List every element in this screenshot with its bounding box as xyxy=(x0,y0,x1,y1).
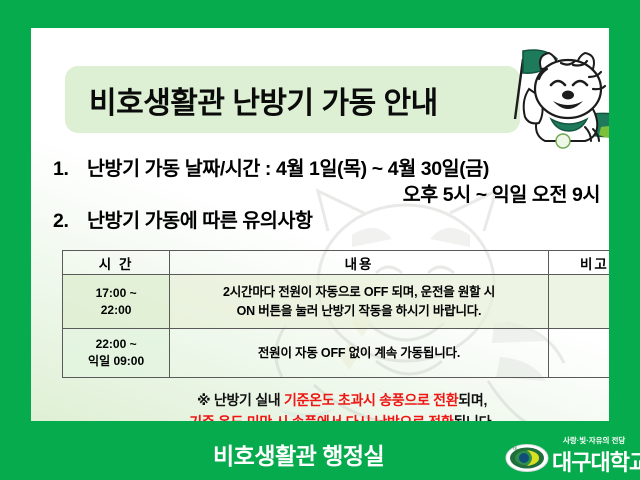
list-item-continuation: 오후 5시 ~ 익일 오전 9시 xyxy=(53,182,609,208)
list-item: 2. 난방기 가동에 따른 유의사항 xyxy=(53,208,609,234)
footnote-plain-a: 난방기 실내 xyxy=(214,392,284,408)
content-line-1: 2시간마다 전원이 자동으로 OFF 되며, 운전을 원할 시 xyxy=(170,283,548,302)
svg-text:대: 대 xyxy=(513,445,517,451)
cell-content: 2시간마다 전원이 자동으로 OFF 되며, 운전을 원할 시 ON 버튼을 눌… xyxy=(170,275,549,329)
list-item-number: 1. xyxy=(53,156,87,182)
footnote-plain-b: 되며, xyxy=(458,392,487,408)
table-header-row: 시 간 내용 비고 xyxy=(63,251,610,275)
content-line-2: ON 버튼을 눌러 난방기 작동을 하시기 바랍니다. xyxy=(170,302,548,321)
footnote-emphasis-1: 기준온도 초과시 송풍으로 전환 xyxy=(284,392,458,408)
cell-content: 전원이 자동 OFF 없이 계속 가동됩니다. xyxy=(170,329,549,378)
column-header-content: 내용 xyxy=(170,251,549,275)
footnote-mark: ※ xyxy=(197,392,214,408)
time-line-2: 익일 09:00 xyxy=(63,353,169,370)
footnote-line-2: 기준 온도 미만 시 송풍에서 다시 난방으로 전환됩니다. xyxy=(62,411,609,421)
list-item-text: 난방기 가동에 따른 유의사항 xyxy=(87,208,313,234)
footnote-plain-c: 됩니다. xyxy=(453,414,494,421)
notice-poster: 비호생활관 난방기 가동 안내 1. 난방기 가동 날짜/시간 : 4월 1일(… xyxy=(0,0,640,480)
university-name: 대구대학교 xyxy=(552,445,640,477)
table-row: 22:00 ~ 익일 09:00 전원이 자동 OFF 없이 계속 가동됩니다. xyxy=(63,329,610,378)
footer-office-name: 비호생활관 행정실 xyxy=(213,437,384,471)
time-line-2: 22:00 xyxy=(63,302,169,319)
footnote-line-1: ※ 난방기 실내 기준온도 초과시 송풍으로 전환되며, xyxy=(62,389,609,411)
cell-time: 22:00 ~ 익일 09:00 xyxy=(63,329,170,378)
column-header-note: 비고 xyxy=(548,251,609,275)
poster-body-panel: 비호생활관 난방기 가동 안내 1. 난방기 가동 날짜/시간 : 4월 1일(… xyxy=(31,28,609,421)
list-item-number: 2. xyxy=(53,208,87,234)
footnote: ※ 난방기 실내 기준온도 초과시 송풍으로 전환되며, 기준 온도 미만 시 … xyxy=(62,389,609,421)
footnote-emphasis-2: 기준 온도 미만 시 송풍에서 다시 난방으로 전환 xyxy=(189,414,453,421)
table-row: 17:00 ~ 22:00 2시간마다 전원이 자동으로 OFF 되며, 운전을… xyxy=(63,275,610,329)
university-emblem-icon: 대 xyxy=(505,444,549,472)
content-line-1: 전원이 자동 OFF 없이 계속 가동됩니다. xyxy=(170,344,548,363)
list-item: 1. 난방기 가동 날짜/시간 : 4월 1일(목) ~ 4월 30일(금) xyxy=(53,156,609,182)
cell-note xyxy=(548,275,609,329)
cell-note xyxy=(548,329,609,378)
column-header-time: 시 간 xyxy=(63,251,170,275)
notice-list: 1. 난방기 가동 날짜/시간 : 4월 1일(목) ~ 4월 30일(금) 오… xyxy=(53,156,609,234)
page-title: 비호생활관 난방기 가동 안내 xyxy=(89,78,519,122)
time-line-1: 17:00 ~ xyxy=(63,285,169,302)
cell-time: 17:00 ~ 22:00 xyxy=(63,275,170,329)
time-line-1: 22:00 ~ xyxy=(63,336,169,353)
list-item-text: 난방기 가동 날짜/시간 : 4월 1일(목) ~ 4월 30일(금) xyxy=(87,156,489,182)
heating-schedule-table: 시 간 내용 비고 17:00 ~ 22:00 2시간마다 전원이 자동으로 O… xyxy=(62,250,609,378)
